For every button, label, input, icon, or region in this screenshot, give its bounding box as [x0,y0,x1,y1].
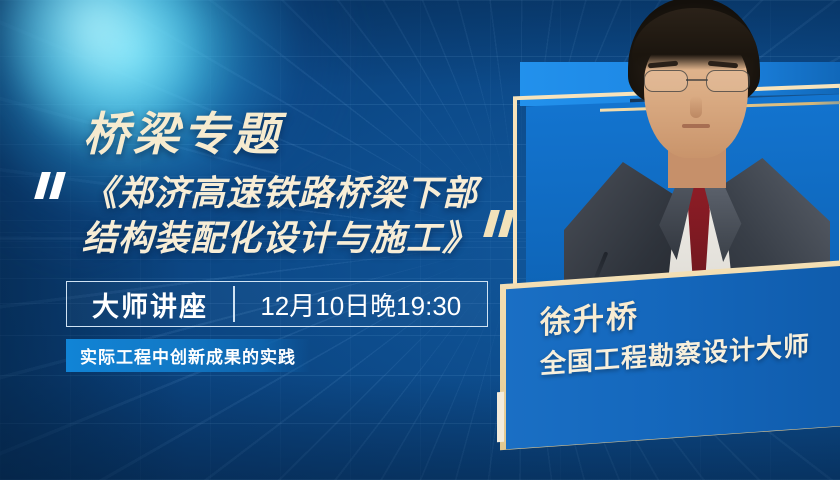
speaker-info: 徐升桥 全国工程勘察设计大师 [540,285,840,417]
quote-bar-2 [49,172,66,199]
glasses-bridge [686,79,708,81]
mouth [682,124,710,128]
nameplate-tick [497,392,504,442]
glasses-lens-left [644,70,688,92]
main-title-line-1: 《郑济高速铁路桥梁下部 [82,172,502,217]
quote-mark-open-icon [38,172,68,199]
tagline-banner: 实际工程中创新成果的实践 [66,339,310,372]
topic-label: 桥梁专题 [83,98,283,164]
lecture-info-box: 大师讲座 12月10日晚19:30 [66,281,488,327]
quote-mark-close-icon [487,210,517,237]
nose [690,96,702,118]
lecture-category: 大师讲座 [67,282,233,326]
main-title-line-2: 结构装配化设计与施工》 [82,217,502,262]
page-title: 《郑济高速铁路桥梁下部 结构装配化设计与施工》 [82,172,502,262]
quote-bar-4 [498,210,515,237]
glasses-lens-right [706,70,750,92]
lecture-datetime: 12月10日晚19:30 [235,282,487,326]
event-poster: 徐升桥 全国工程勘察设计大师 桥梁专题 《郑济高速铁路桥梁下部 结构装配化设计与… [0,0,840,480]
glasses-icon [642,70,752,92]
